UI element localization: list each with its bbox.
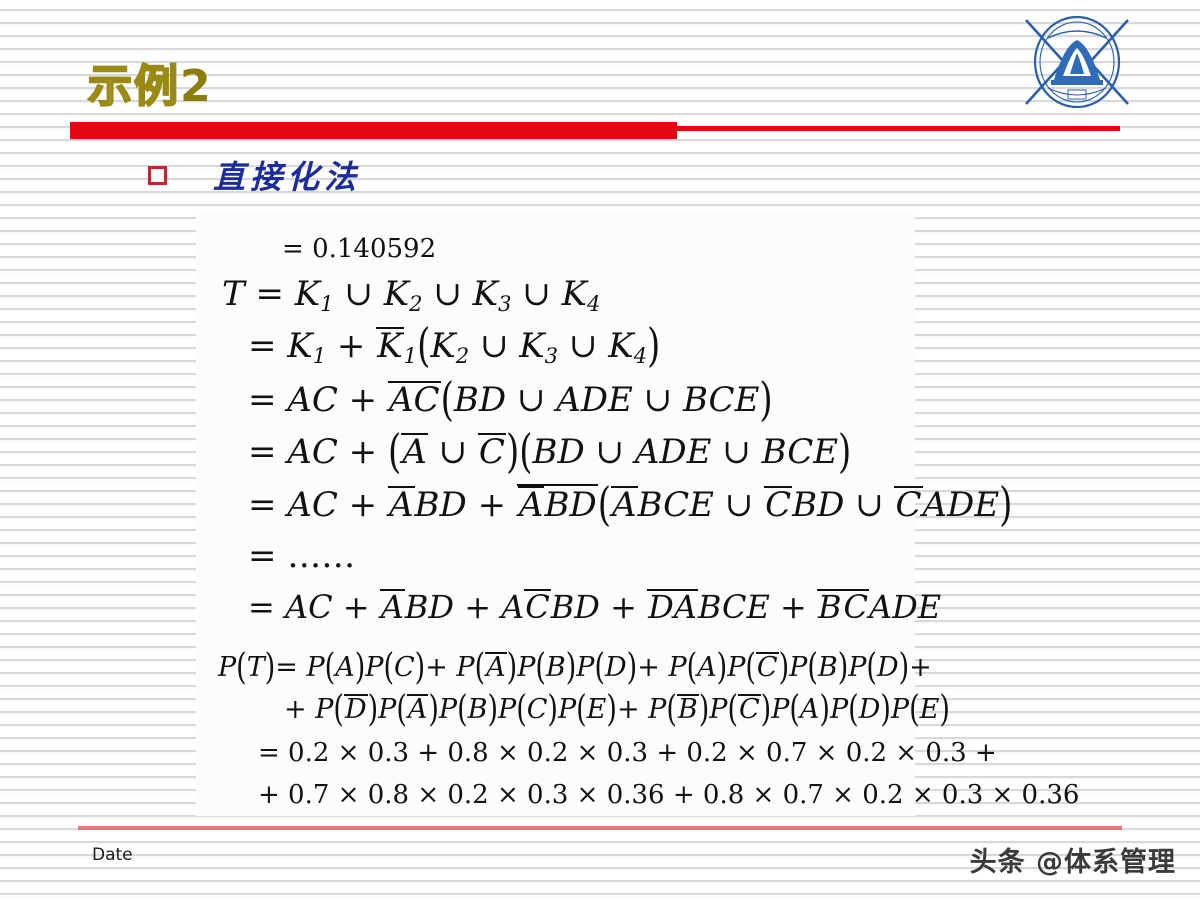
- numeric-line-1: = 0.2 × 0.3 + 0.8 × 0.2 × 0.3 + 0.2 × 0.…: [258, 738, 997, 768]
- watermark-text: 头条 @体系管理: [970, 840, 1176, 879]
- footer-divider: [78, 826, 1122, 830]
- probability-line-1: P(T)= P(A)P(C)+ P(A)P(B)P(D)+ P(A)P(C)P(…: [218, 652, 932, 683]
- equation-line-7: = AC + ABD + ACBD + DABCE + BCADE: [248, 588, 941, 626]
- equation-ellipsis: = ……: [248, 536, 355, 576]
- numeric-line-2: + 0.7 × 0.8 × 0.2 × 0.3 × 0.36 + 0.8 × 0…: [258, 780, 1079, 810]
- equation-line-6: = ……: [248, 536, 355, 576]
- page-title: 示例2: [88, 50, 213, 114]
- square-bullet-icon: [148, 166, 167, 185]
- equation-panel: = 0.140592 T = K1 ∪ K2 ∪ K3 ∪ K4 = K1 + …: [196, 212, 915, 816]
- footer-date: Date: [92, 845, 133, 865]
- equation-value-line: = 0.140592: [282, 234, 436, 264]
- page-title-text: 示例: [88, 61, 180, 112]
- title-divider-line: [677, 126, 1120, 131]
- university-emblem-logo: [1018, 14, 1136, 110]
- subtitle-text: 直接化法: [213, 152, 361, 198]
- equation-line-1: T = K1 ∪ K2 ∪ K3 ∪ K4: [222, 274, 600, 316]
- subtitle-row: 直接化法: [148, 152, 361, 198]
- equation-value: 0.140592: [312, 234, 436, 264]
- title-divider-bar: [70, 122, 677, 139]
- slide-canvas: 示例2 直接化法 = 0.140592 T = K1 ∪ K2 ∪ K3 ∪ K…: [0, 0, 1200, 900]
- probability-line-2: + P(D)P(A)P(B)P(C)P(E)+ P(B)P(C)P(A)P(D)…: [284, 694, 950, 725]
- page-title-number: 2: [180, 61, 213, 112]
- equation-line-3: = AC + AC(BD ∪ ADE ∪ BCE): [248, 380, 773, 420]
- equation-line-5: = AC + ABD + ABD(ABCE ∪ CBD ∪ CADE): [248, 484, 1012, 525]
- equation-line-4: = AC + (A ∪ C)(BD ∪ ADE ∪ BCE): [248, 432, 851, 472]
- equation-line-2: = K1 + K1(K2 ∪ K3 ∪ K4): [248, 326, 660, 368]
